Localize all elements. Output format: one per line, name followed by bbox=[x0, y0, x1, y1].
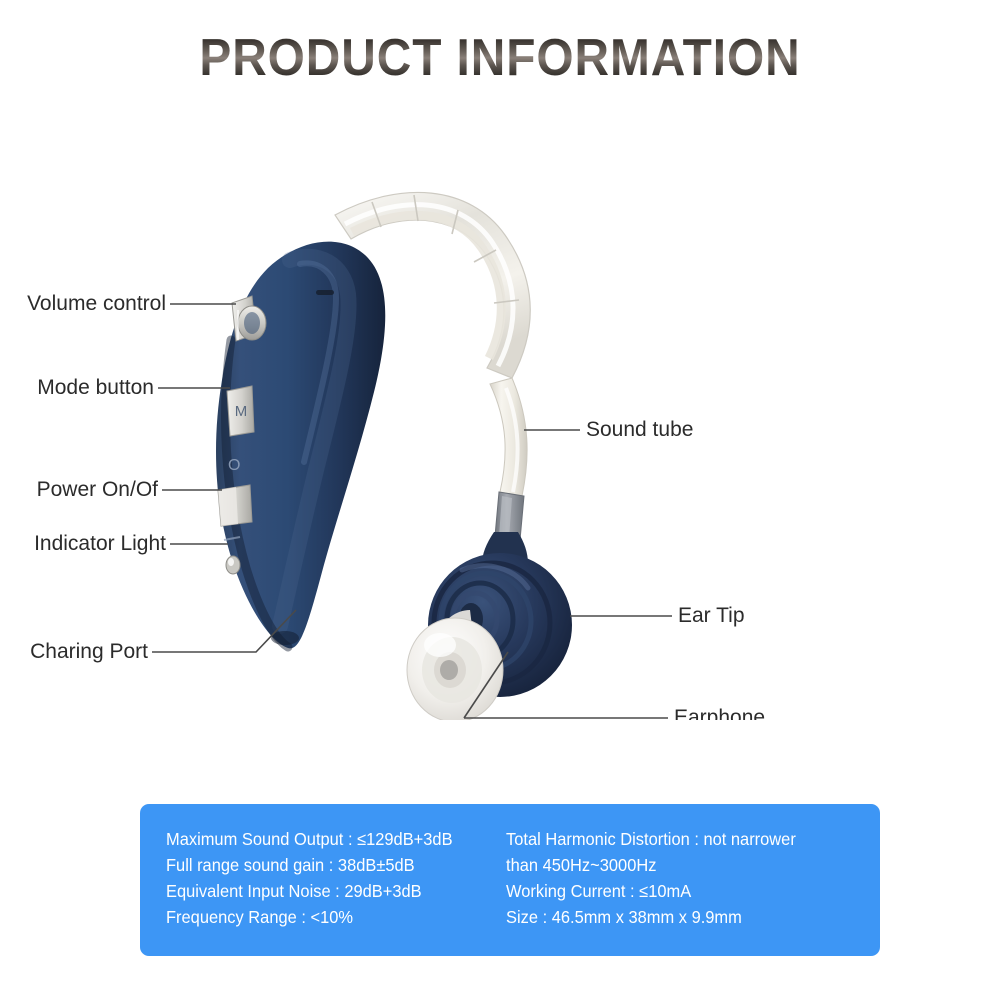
microphone-slot bbox=[316, 290, 334, 295]
mode-button[interactable]: M bbox=[227, 386, 254, 436]
spec-column-right: Total Harmonic Distortion : not narrower… bbox=[506, 826, 866, 956]
callout-labels: Volume control Mode button Power On/Of I… bbox=[27, 292, 765, 720]
power-switch[interactable] bbox=[218, 485, 252, 526]
callout-label-mode-button: Mode button bbox=[37, 376, 154, 399]
charging-port bbox=[271, 631, 299, 645]
callout-label-charging-port: Charing Port bbox=[30, 640, 148, 663]
spec-line-total-harmonic-distortion: Total Harmonic Distortion : not narrower bbox=[506, 826, 844, 852]
specifications-panel: Maximum Sound Output : ≤129dB+3dB Full r… bbox=[140, 804, 880, 956]
spec-line-working-current: Working Current : ≤10mA bbox=[506, 878, 844, 904]
callout-label-ear-tip: Ear Tip bbox=[678, 604, 745, 627]
page-title: PRODUCT INFORMATION bbox=[40, 28, 960, 88]
sound-tube bbox=[490, 378, 527, 540]
indicator-light bbox=[226, 556, 240, 574]
product-diagram: M O bbox=[0, 140, 1000, 720]
spec-line-max-sound-output: Maximum Sound Output : ≤129dB+3dB bbox=[166, 826, 486, 852]
callout-label-earphone: Earphone bbox=[674, 706, 765, 720]
spec-line-full-range-sound-gain: Full range sound gain : 38dB±5dB bbox=[166, 852, 486, 878]
callout-label-indicator-light: Indicator Light bbox=[34, 532, 166, 555]
spec-line-frequency-range: Frequency Range : <10% bbox=[166, 904, 486, 930]
spec-line-size: Size : 46.5mm x 38mm x 9.9mm bbox=[506, 904, 844, 930]
spec-column-left: Maximum Sound Output : ≤129dB+3dB Full r… bbox=[166, 826, 506, 956]
callout-label-power-on-off: Power On/Of bbox=[37, 478, 159, 501]
callout-label-sound-tube: Sound tube bbox=[586, 418, 693, 441]
power-marking-glyph: O bbox=[228, 457, 240, 474]
spec-line-equivalent-input-noise: Equivalent Input Noise : 29dB+3dB bbox=[166, 878, 486, 904]
callout-label-volume-control: Volume control bbox=[27, 292, 166, 315]
mode-button-glyph: M bbox=[235, 403, 248, 420]
spec-line-distortion-continued: than 450Hz~3000Hz bbox=[506, 852, 844, 878]
